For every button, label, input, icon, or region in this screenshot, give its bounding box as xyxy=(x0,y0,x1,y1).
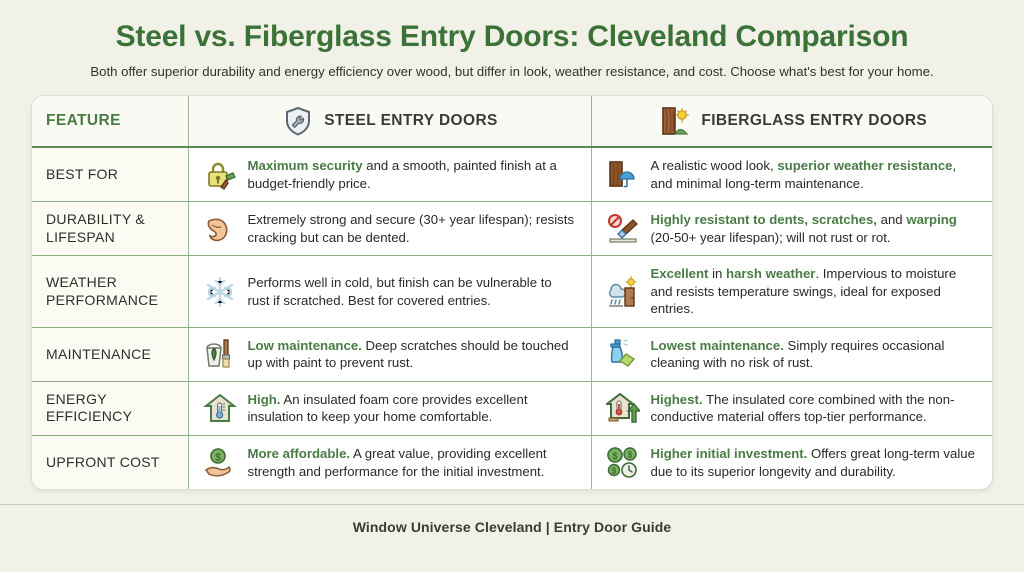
spray-bottle-sponge-icon xyxy=(606,337,640,371)
house-thermometer-arrow-icon xyxy=(606,391,640,425)
fiberglass-cell: Highest. The insulated core combined wit… xyxy=(591,381,993,435)
column-header-fiberglass: FIBERGLASS ENTRY DOORS xyxy=(591,96,993,147)
column-header-fiberglass-label: FIBERGLASS ENTRY DOORS xyxy=(701,112,927,130)
fiberglass-cell: $ $ $ Higher initial investment. Offers … xyxy=(591,436,993,490)
steel-cell: Maximum security and a smooth, painted f… xyxy=(188,147,591,202)
wood-door-umbrella-icon xyxy=(606,158,640,192)
steel-cell-text: Performs well in cold, but finish can be… xyxy=(248,274,577,309)
footer-text: Window Universe Cleveland | Entry Door G… xyxy=(353,519,672,535)
comparison-table: FEATURE STEEL ENTRY DOORS xyxy=(32,96,993,489)
feature-label: MAINTENANCE xyxy=(32,327,188,381)
fiberglass-cell: Highly resistant to dents, scratches, an… xyxy=(591,202,993,256)
table-header-row: FEATURE STEEL ENTRY DOORS xyxy=(32,96,993,147)
feature-label: UPFRONT COST xyxy=(32,436,188,490)
svg-text:$: $ xyxy=(612,451,617,461)
table-body: BEST FOR xyxy=(32,147,993,489)
table-row: MAINTENANCE xyxy=(32,327,993,381)
steel-cell: Low maintenance. Deep scratches should b… xyxy=(188,327,591,381)
steel-cell-text: Low maintenance. Deep scratches should b… xyxy=(248,337,577,372)
padlock-key-icon xyxy=(203,158,237,192)
steel-cell: Extremely strong and secure (30+ year li… xyxy=(188,202,591,256)
feature-label: ENERGY EFFICIENCY xyxy=(32,381,188,435)
table-row: WEATHER PERFORMANCE xyxy=(32,256,993,328)
paint-bucket-brush-icon xyxy=(203,337,237,371)
feature-label: WEATHER PERFORMANCE xyxy=(32,256,188,328)
column-header-steel-label: STEEL ENTRY DOORS xyxy=(324,112,498,130)
steel-cell-text: More affordable. A great value, providin… xyxy=(248,445,577,480)
table-row: UPFRONT COST $ More affordable. A great … xyxy=(32,436,993,490)
svg-text:$: $ xyxy=(611,466,616,475)
hand-coin-icon: $ xyxy=(203,446,237,480)
snowflake-icon xyxy=(203,275,237,309)
page-subtitle: Both offer superior durability and energ… xyxy=(90,64,933,79)
fiberglass-cell: Excellent in harsh weather. Impervious t… xyxy=(591,256,993,328)
feature-label: BEST FOR xyxy=(32,147,188,202)
rain-sun-door-icon xyxy=(606,275,640,309)
page-title: Steel vs. Fiberglass Entry Doors: Clevel… xyxy=(116,20,909,54)
house-thermometer-icon xyxy=(203,391,237,425)
comparison-card: FEATURE STEEL ENTRY DOORS xyxy=(31,95,993,490)
feature-label: DURABILITY & LIFESPAN xyxy=(32,202,188,256)
svg-text:$: $ xyxy=(215,452,221,463)
table-row: DURABILITY & LIFESPAN Extremely strong a… xyxy=(32,202,993,256)
steel-cell: Performs well in cold, but finish can be… xyxy=(188,256,591,328)
fiberglass-cell: A realistic wood look, superior weather … xyxy=(591,147,993,202)
fiberglass-cell-text: A realistic wood look, superior weather … xyxy=(651,157,981,192)
fiberglass-cell-text: Lowest maintenance. Simply requires occa… xyxy=(651,337,981,372)
fiberglass-cell: Lowest maintenance. Simply requires occa… xyxy=(591,327,993,381)
steel-cell-text: Maximum security and a smooth, painted f… xyxy=(248,157,577,192)
table-header: FEATURE STEEL ENTRY DOORS xyxy=(32,96,993,147)
fiberglass-cell-text: Highly resistant to dents, scratches, an… xyxy=(651,211,981,246)
column-header-feature: FEATURE xyxy=(32,96,188,147)
table-row: ENERGY EFFICIENCY xyxy=(32,381,993,435)
flexed-bicep-icon xyxy=(203,212,237,246)
steel-cell: High. An insulated foam core provides ex… xyxy=(188,381,591,435)
steel-cell-text: Extremely strong and secure (30+ year li… xyxy=(248,211,577,246)
footer-divider xyxy=(0,504,1024,505)
steel-cell-text: High. An insulated foam core provides ex… xyxy=(248,391,577,426)
shield-wrench-icon xyxy=(281,104,315,138)
no-scratch-icon xyxy=(606,212,640,246)
table-row: BEST FOR xyxy=(32,147,993,202)
fiberglass-cell-text: Higher initial investment. Offers great … xyxy=(651,445,981,480)
column-header-steel: STEEL ENTRY DOORS xyxy=(188,96,591,147)
svg-text:$: $ xyxy=(627,450,632,459)
fiberglass-cell-text: Excellent in harsh weather. Impervious t… xyxy=(651,265,981,318)
steel-cell: $ More affordable. A great value, provid… xyxy=(188,436,591,490)
wood-plank-sun-icon xyxy=(658,104,692,138)
infographic-page: Steel vs. Fiberglass Entry Doors: Clevel… xyxy=(0,0,1024,572)
coins-clock-icon: $ $ $ xyxy=(606,446,640,480)
fiberglass-cell-text: Highest. The insulated core combined wit… xyxy=(651,391,981,426)
